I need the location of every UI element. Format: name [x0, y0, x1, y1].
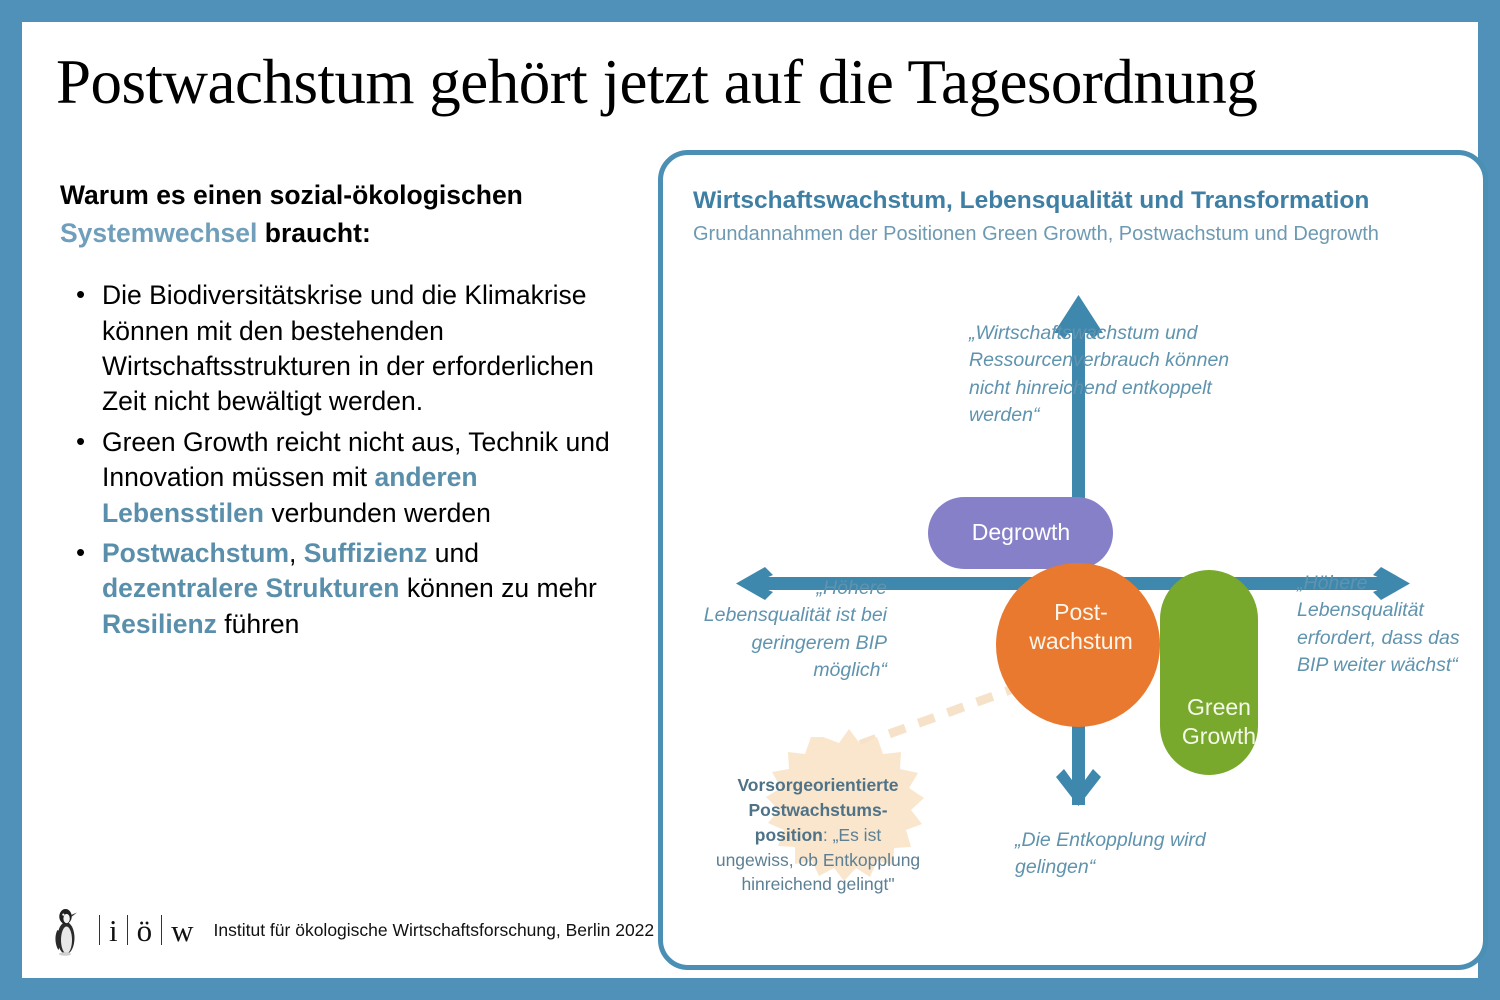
node-green-growth — [1160, 570, 1258, 775]
left-content-column: Warum es einen sozial-ökologischen Syste… — [60, 177, 630, 647]
bullet-segment: Die Biodiversitätskrise und die Klimakri… — [102, 280, 594, 416]
bullet-list: Die Biodiversitätskrise und die Klimakri… — [60, 278, 630, 642]
quote-top: „Wirtschaftswachstum und Ressourcenverbr… — [969, 320, 1239, 429]
left-heading: Warum es einen sozial-ökologischen Syste… — [60, 177, 630, 252]
bullet-segment-highlight: Suffizienz — [304, 538, 428, 568]
node-degrowth — [928, 497, 1113, 569]
quote-bottom: „Die Entkopplung wird gelingen“ — [1015, 827, 1245, 882]
page-title: Postwachstum gehört jetzt auf die Tageso… — [56, 46, 1346, 119]
callout-text: Vorsorgeorientierte Postwachstums-positi… — [715, 773, 921, 897]
bullet-segment: , — [289, 538, 304, 568]
node-postwachstum — [996, 563, 1160, 727]
wordmark-letter-i: i — [109, 915, 118, 946]
bullet-segment: verbunden werden — [264, 498, 491, 528]
wordmark-divider — [161, 915, 162, 945]
bullet-segment: und — [427, 538, 479, 568]
diagram-canvas: Degrowth Post-wachstum GreenGrowth „Wirt… — [663, 155, 1493, 975]
footer: i ö w Institut für ökologische Wirtschaf… — [52, 904, 654, 956]
penguin-icon — [52, 904, 82, 956]
left-heading-part2: braucht: — [257, 218, 370, 248]
bullet-segment: führen — [217, 609, 300, 639]
slide-root: Postwachstum gehört jetzt auf die Tageso… — [0, 0, 1500, 1000]
diagram-panel: Wirtschaftswachstum, Lebensqualität und … — [658, 150, 1488, 970]
list-item: Green Growth reicht nicht aus, Technik u… — [102, 425, 630, 531]
wordmark-divider — [127, 915, 128, 945]
list-item: Die Biodiversitätskrise und die Klimakri… — [102, 278, 630, 420]
quote-right: „Höhere Lebensqualität erfordert, dass d… — [1297, 570, 1477, 679]
wordmark-divider — [99, 915, 100, 945]
bullet-segment: können zu mehr — [399, 573, 596, 603]
footer-credit-text: Institut für ökologische Wirtschaftsfors… — [214, 920, 655, 941]
left-heading-highlight: Systemwechsel — [60, 218, 257, 248]
bullet-segment-highlight: dezentralere Strukturen — [102, 573, 399, 603]
wordmark-letter-w: w — [171, 915, 193, 946]
left-heading-part1: Warum es einen sozial-ökologischen — [60, 180, 523, 210]
quote-left: „Höhere Lebensqualität ist bei geringere… — [691, 575, 887, 684]
list-item: Postwachstum, Suffizienz und dezentraler… — [102, 536, 630, 642]
wordmark-letter-o: ö — [137, 915, 153, 946]
bullet-segment-highlight: Postwachstum — [102, 538, 289, 568]
bullet-segment-highlight: Resilienz — [102, 609, 217, 639]
ioew-wordmark: i ö w — [90, 915, 194, 946]
bullet-segment: Green Growth reicht nicht aus, Technik u… — [102, 427, 610, 492]
